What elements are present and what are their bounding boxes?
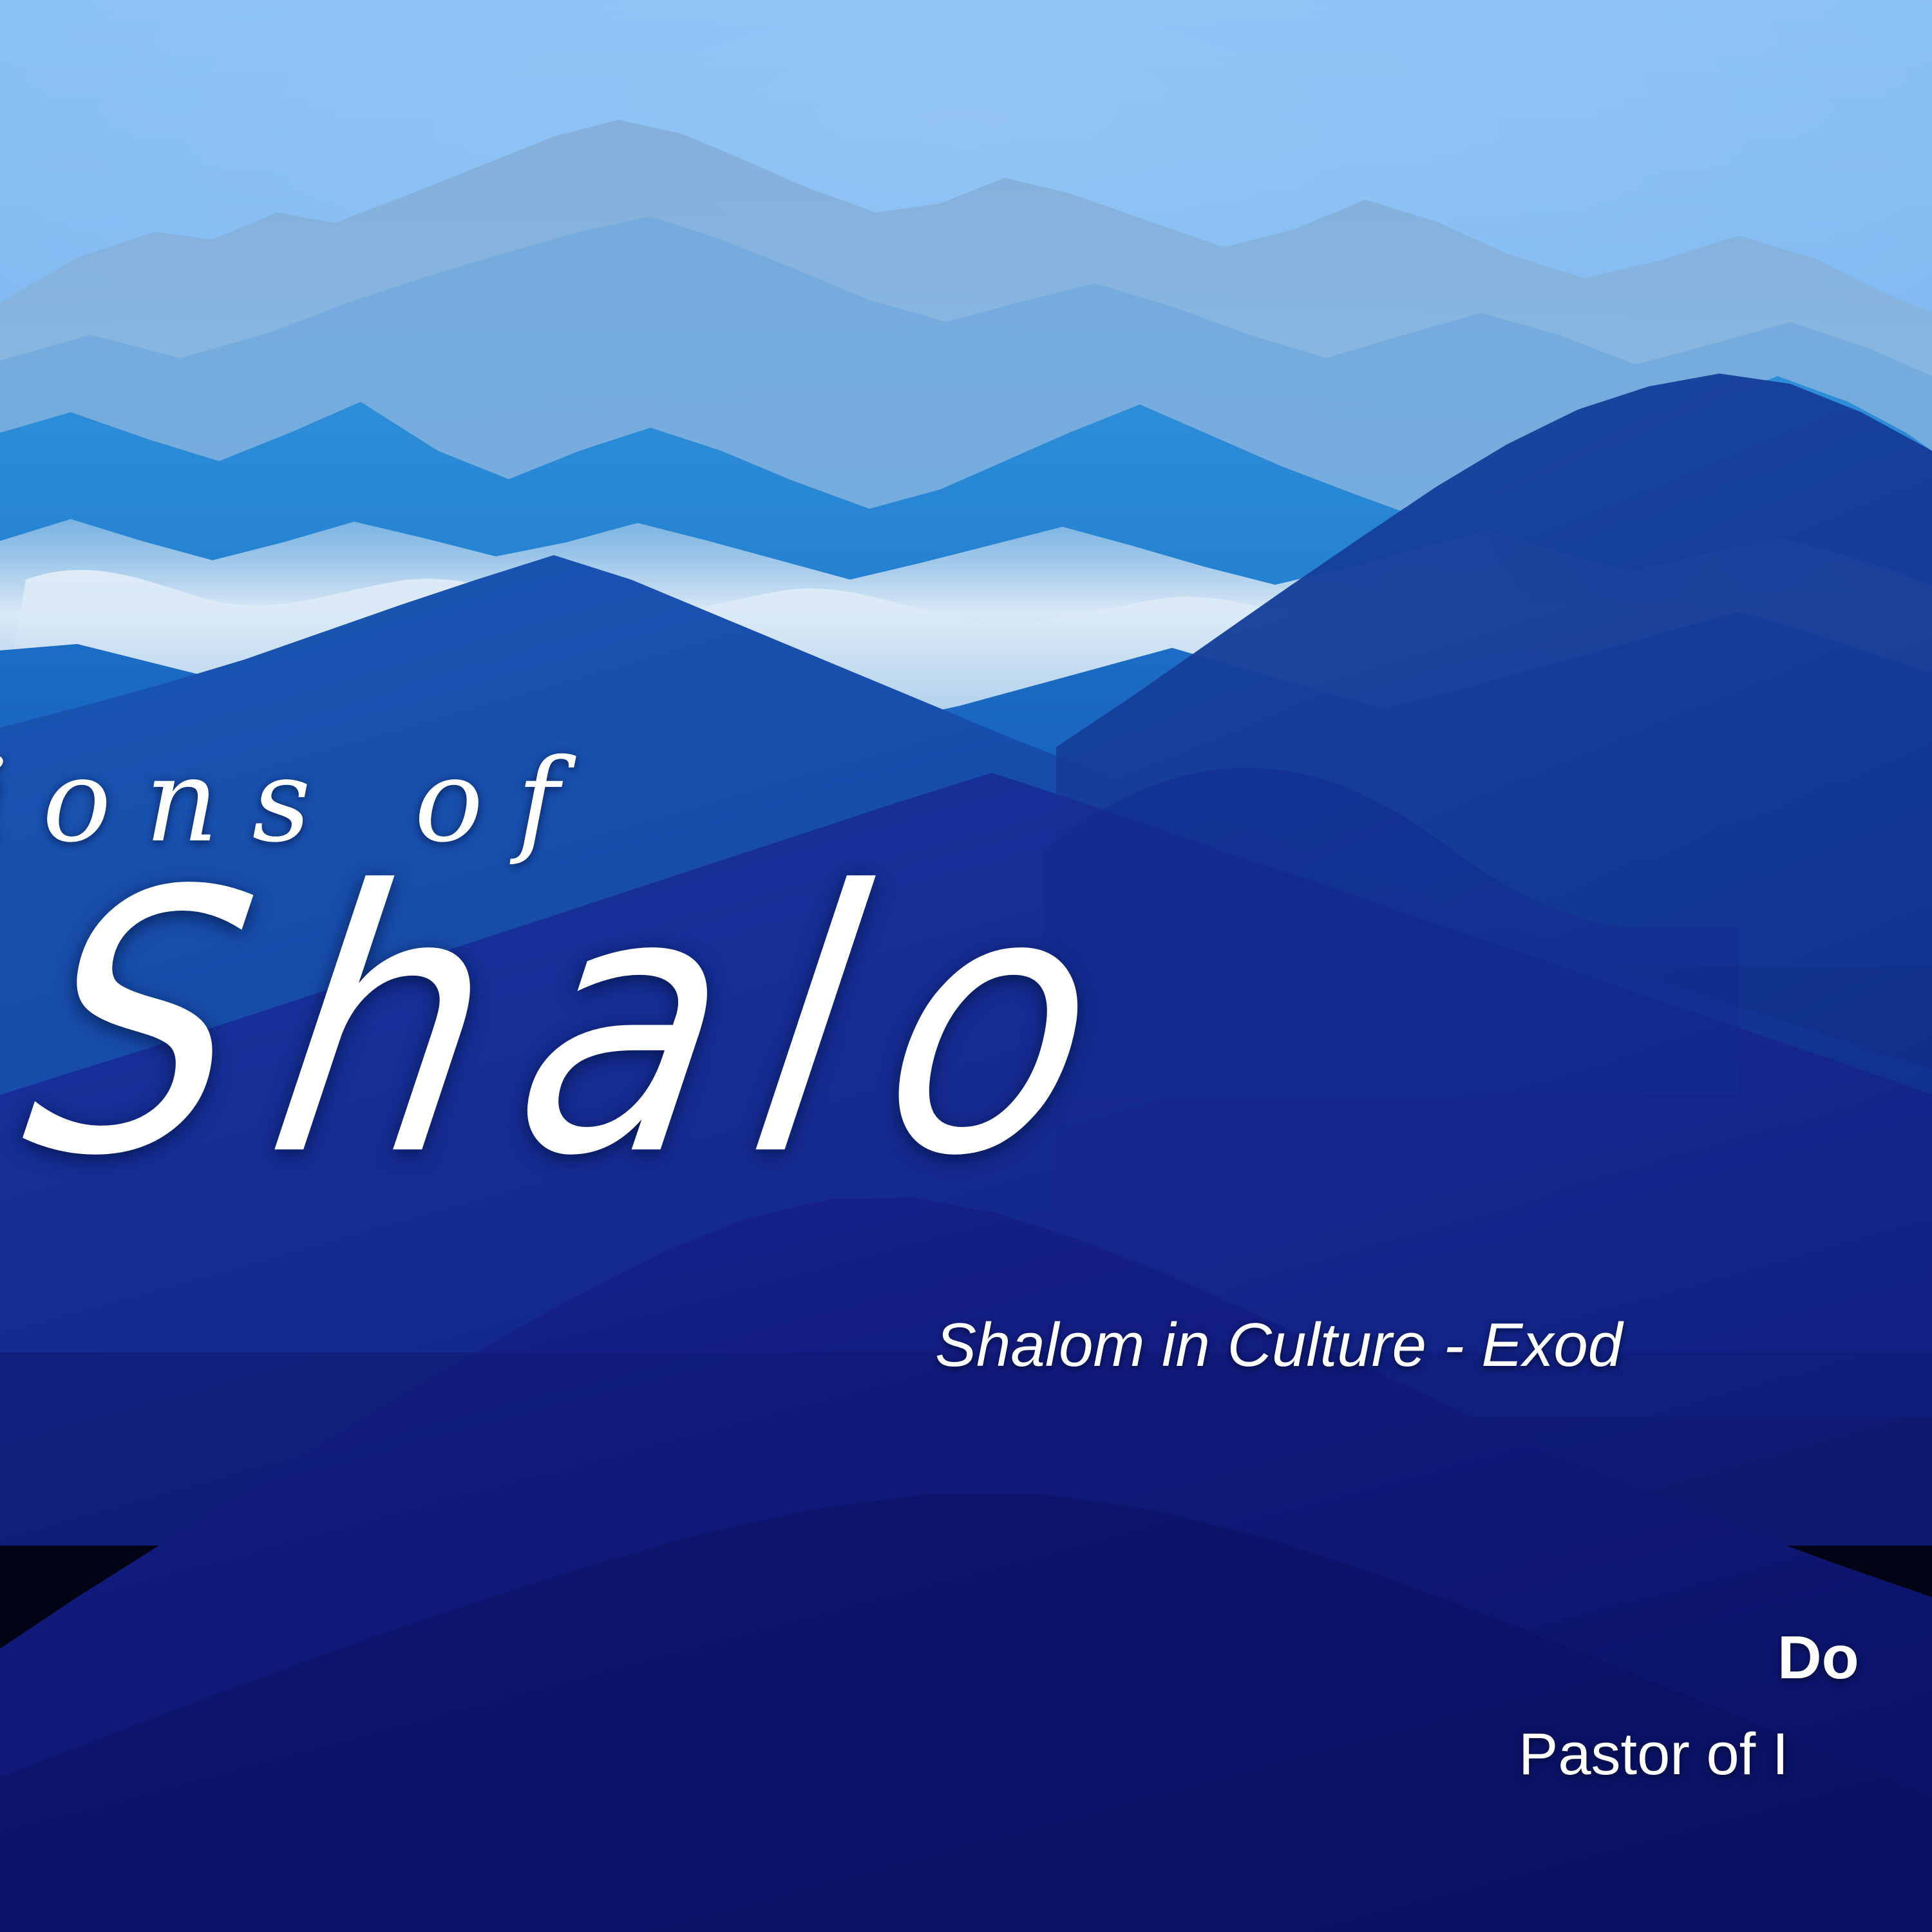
speaker-name: Do [1777, 1623, 1859, 1693]
bottom-vignette [0, 1352, 1932, 1932]
speaker-role: Pastor of I [1519, 1721, 1788, 1788]
episode-subtitle: Shalom in Culture - Exod [935, 1310, 1622, 1381]
series-title-line2: Shalo [5, 815, 1164, 1235]
podcast-cover-art: ssions of Shalo Shalom in Culture - Exod… [0, 0, 1932, 1932]
